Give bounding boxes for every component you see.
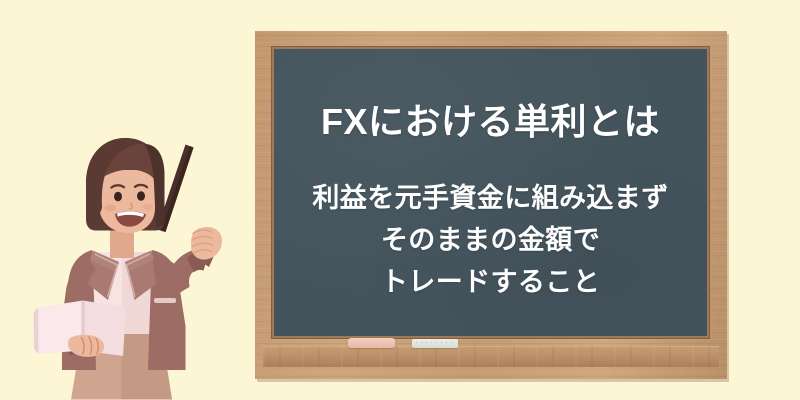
blazer-pocket <box>154 298 176 303</box>
board-body-line-3: トレードすること <box>312 261 668 303</box>
eye-left <box>114 192 122 202</box>
chalkboard-text-area: FXにおける単利とは 利益を元手資金に組み込まず そのままの金額で トレードする… <box>274 49 707 336</box>
chalk-stick <box>412 339 458 348</box>
blush-right <box>143 204 153 210</box>
chalkboard-eraser <box>348 338 395 348</box>
chalk-ledge <box>263 346 719 367</box>
board-body: 利益を元手資金に組み込まず そのままの金額で トレードすること <box>312 177 668 303</box>
neck <box>110 230 134 258</box>
board-body-line-1: 利益を元手資金に組み込まず <box>312 177 668 219</box>
board-title: FXにおける単利とは <box>321 102 660 142</box>
slide-canvas: FXにおける単利とは 利益を元手資金に組み込まず そのままの金額で トレードする… <box>0 0 800 400</box>
right-hand <box>191 227 222 260</box>
blush-left <box>104 204 116 211</box>
board-body-line-2: そのままの金額で <box>312 219 668 261</box>
teacher-illustration <box>22 134 238 400</box>
eye-right <box>137 191 145 201</box>
chalkboard: FXにおける単利とは 利益を元手資金に組み込まず そのままの金額で トレードする… <box>255 31 727 379</box>
